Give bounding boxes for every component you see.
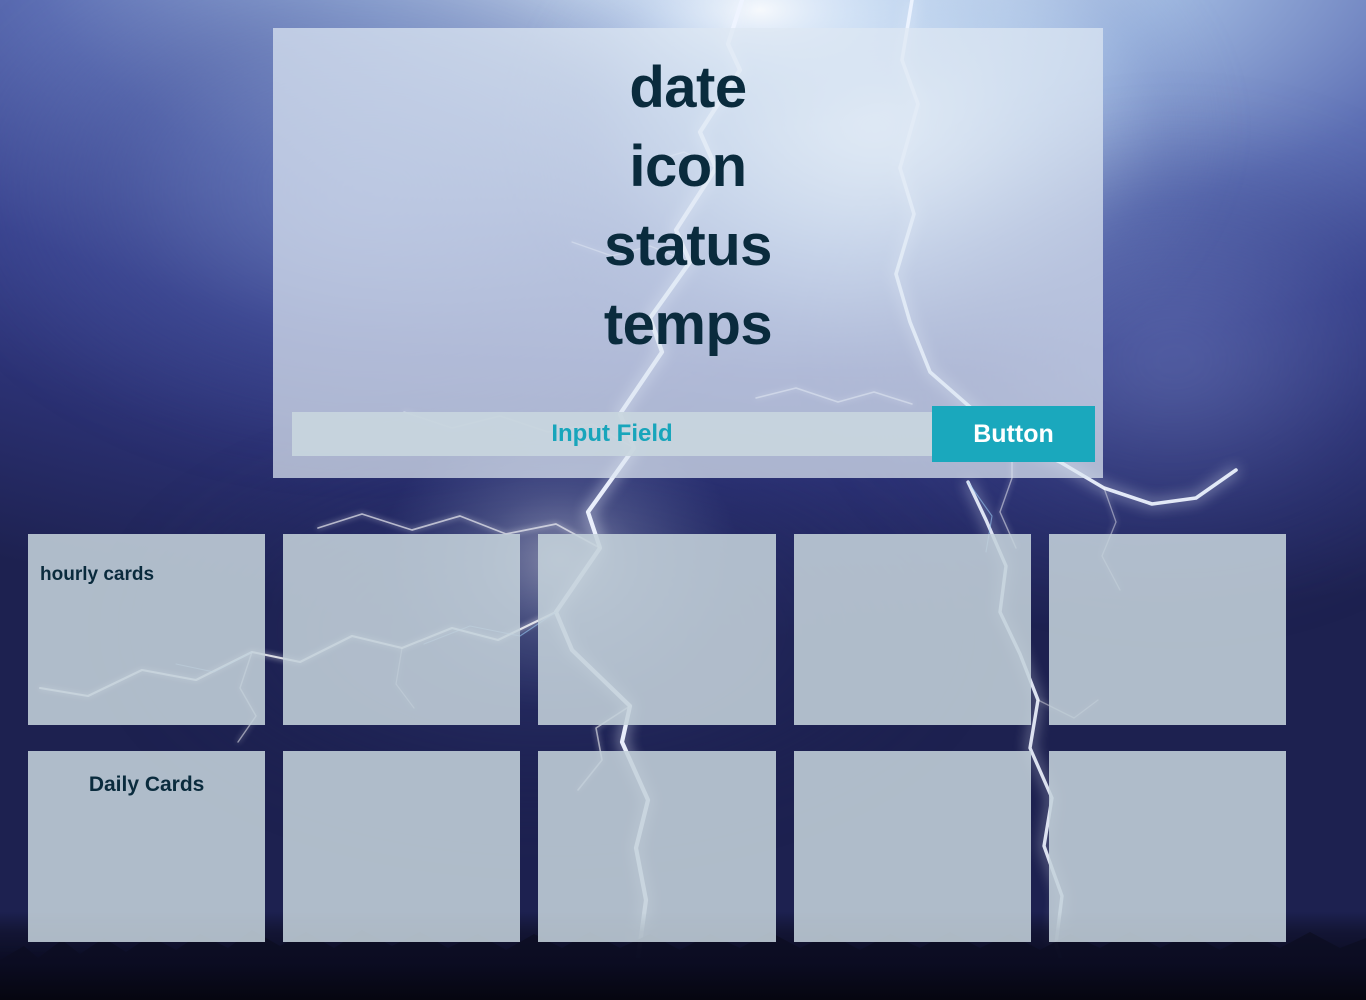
current-conditions-text: date icon status temps (273, 58, 1103, 355)
hourly-card[interactable] (794, 534, 1031, 725)
current-conditions-panel: date icon status temps Button (273, 28, 1103, 478)
search-row: Button (292, 406, 1095, 462)
daily-cards-label: Daily Cards (28, 773, 265, 797)
search-input[interactable] (292, 412, 932, 456)
daily-card[interactable] (538, 751, 775, 942)
current-status-line: status (273, 216, 1103, 275)
app-root: date icon status temps Button hourly car… (0, 0, 1366, 1000)
hourly-card[interactable] (538, 534, 775, 725)
hourly-card[interactable] (1049, 534, 1286, 725)
current-temps-line: temps (273, 295, 1103, 354)
daily-card[interactable] (794, 751, 1031, 942)
current-icon-line: icon (273, 137, 1103, 196)
hourly-card[interactable]: hourly cards (28, 534, 265, 725)
daily-card[interactable] (283, 751, 520, 942)
daily-card[interactable] (1049, 751, 1286, 942)
search-button[interactable]: Button (932, 406, 1095, 462)
daily-cards-grid: Daily Cards (28, 751, 1286, 942)
hourly-cards-grid: hourly cards (28, 534, 1286, 725)
hourly-card[interactable] (283, 534, 520, 725)
daily-card[interactable]: Daily Cards (28, 751, 265, 942)
hourly-cards-label: hourly cards (40, 564, 154, 586)
current-date-line: date (273, 58, 1103, 117)
